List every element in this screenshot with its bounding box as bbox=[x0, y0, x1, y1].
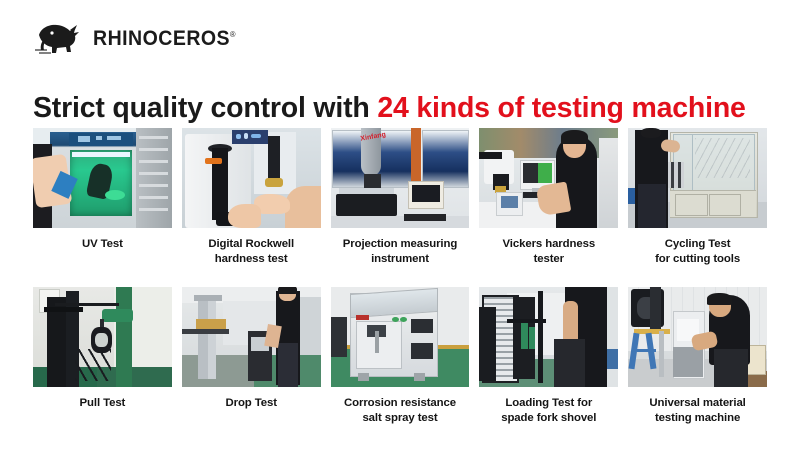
gallery-row-2: Pull Test Drop Test bbox=[33, 287, 767, 426]
gallery-item-caption: Projection measuring instrument bbox=[331, 237, 470, 267]
gallery-item-caption: Cycling Test for cutting tools bbox=[628, 237, 767, 267]
gallery-item-pull-test[interactable]: Pull Test bbox=[33, 287, 172, 426]
page-title-highlight: 24 kinds of testing machine bbox=[377, 92, 745, 124]
brand-trademark-symbol: ® bbox=[230, 30, 236, 39]
gallery-item-caption: Vickers hardness tester bbox=[479, 237, 618, 267]
gallery-item-caption: Universal material testing machine bbox=[628, 396, 767, 426]
gallery-item-digital-rockwell-hardness-test[interactable]: Digital Rockwell hardness test bbox=[182, 128, 321, 267]
pull-test-rig-photo bbox=[33, 287, 172, 387]
caption-line-2: salt spray test bbox=[331, 411, 470, 426]
caption-line-1: Universal material bbox=[628, 396, 767, 411]
slide-canvas: RHINOCEROS® Strict quality control with … bbox=[0, 0, 800, 449]
brand-logo: RHINOCEROS® bbox=[33, 18, 247, 58]
caption-line-1: Cycling Test bbox=[628, 237, 767, 252]
salt-spray-chamber-photo bbox=[331, 287, 470, 387]
gallery-item-universal-material-testing-machine[interactable]: Universal material testing machine bbox=[628, 287, 767, 426]
caption-line-1: Corrosion resistance bbox=[331, 396, 470, 411]
caption-line-1: Drop Test bbox=[182, 396, 321, 411]
gallery-item-loading-test-for-spade-fork-shovel[interactable]: Loading Test for spade fork shovel bbox=[479, 287, 618, 426]
universal-material-testing-machine-photo bbox=[628, 287, 767, 387]
gallery-item-caption: Pull Test bbox=[33, 396, 172, 411]
page-title: Strict quality control with 24 kinds of … bbox=[33, 91, 773, 125]
drop-test-rig-photo bbox=[182, 287, 321, 387]
loading-test-rack-photo bbox=[479, 287, 618, 387]
caption-line-1: Pull Test bbox=[33, 396, 172, 411]
caption-line-2: for cutting tools bbox=[628, 252, 767, 267]
caption-line-2: testing machine bbox=[628, 411, 767, 426]
cycling-test-machine-photo bbox=[628, 128, 767, 228]
caption-line-1: Loading Test for bbox=[479, 396, 618, 411]
testing-machine-gallery: UV Test Digital Rockwell hardness test bbox=[33, 128, 767, 426]
caption-line-1: UV Test bbox=[33, 237, 172, 252]
caption-line-1: Digital Rockwell bbox=[182, 237, 321, 252]
caption-line-2: instrument bbox=[331, 252, 470, 267]
gallery-item-corrosion-resistance-salt-spray-test[interactable]: Corrosion resistance salt spray test bbox=[331, 287, 470, 426]
caption-line-2: tester bbox=[479, 252, 618, 267]
digital-rockwell-hardness-tester-photo bbox=[182, 128, 321, 228]
gallery-item-vickers-hardness-tester[interactable]: Vickers hardness tester bbox=[479, 128, 618, 267]
uv-test-chamber-photo bbox=[33, 128, 172, 228]
gallery-item-caption: Corrosion resistance salt spray test bbox=[331, 396, 470, 426]
vickers-hardness-tester-photo bbox=[479, 128, 618, 228]
caption-line-1: Projection measuring bbox=[331, 237, 470, 252]
gallery-item-caption: Drop Test bbox=[182, 396, 321, 411]
caption-line-2: hardness test bbox=[182, 252, 321, 267]
gallery-row-1: UV Test Digital Rockwell hardness test bbox=[33, 128, 767, 267]
gallery-item-caption: Digital Rockwell hardness test bbox=[182, 237, 321, 267]
gallery-item-drop-test[interactable]: Drop Test bbox=[182, 287, 321, 426]
gallery-item-caption: Loading Test for spade fork shovel bbox=[479, 396, 618, 426]
rhinoceros-icon bbox=[33, 19, 89, 57]
gallery-item-uv-test[interactable]: UV Test bbox=[33, 128, 172, 267]
caption-line-2: spade fork shovel bbox=[479, 411, 618, 426]
projection-measuring-instrument-photo: Xinfang bbox=[331, 128, 470, 228]
page-title-lead: Strict quality control with bbox=[33, 92, 377, 124]
brand-logo-wordmark: RHINOCEROS bbox=[93, 27, 230, 50]
brand-logo-text: RHINOCEROS® bbox=[93, 27, 236, 51]
gallery-item-cycling-test-for-cutting-tools[interactable]: Cycling Test for cutting tools bbox=[628, 128, 767, 267]
caption-line-1: Vickers hardness bbox=[479, 237, 618, 252]
gallery-item-caption: UV Test bbox=[33, 237, 172, 252]
gallery-item-projection-measuring-instrument[interactable]: Xinfang Projection measuring instrument bbox=[331, 128, 470, 267]
